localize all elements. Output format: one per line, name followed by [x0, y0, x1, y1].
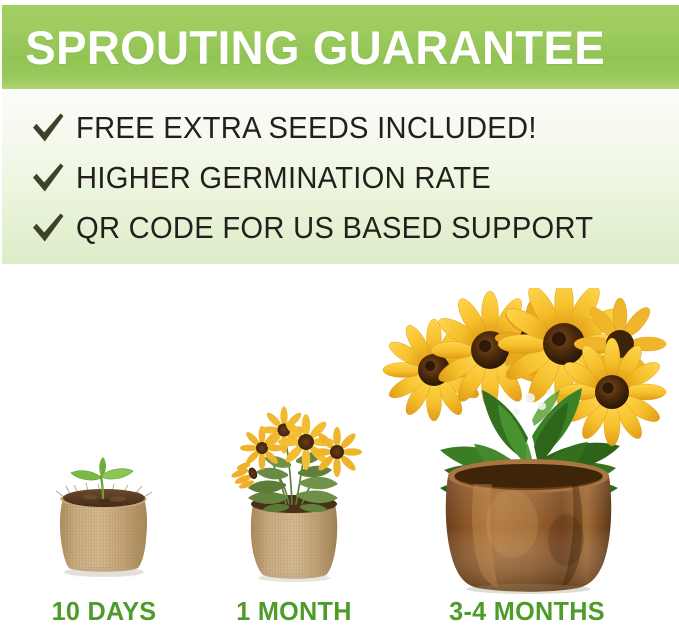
benefits-panel: FREE EXTRA SEEDS INCLUDED! HIGHER GERMIN… [2, 89, 679, 264]
check-icon [29, 107, 67, 147]
sprouting-guarantee-poster: SPROUTING GUARANTEE FREE EXTRA SEEDS INC… [0, 0, 679, 630]
growth-timeline: 10 DAYS [0, 264, 679, 630]
stage-caption: 10 DAYS [9, 598, 199, 630]
mature-sunflowers-in-copper-pot-image [382, 288, 672, 598]
list-item: QR CODE FOR US BASED SUPPORT [2, 202, 679, 252]
list-item-label: HIGHER GERMINATION RATE [76, 162, 491, 193]
header-banner: SPROUTING GUARANTEE [2, 5, 679, 89]
stage-caption: 3-4 MONTHS [386, 598, 667, 630]
list-item-label: QR CODE FOR US BASED SUPPORT [76, 212, 593, 243]
page-title: SPROUTING GUARANTEE [2, 24, 605, 71]
list-item: FREE EXTRA SEEDS INCLUDED! [2, 102, 679, 152]
young-sunflowers-in-burlap-pot-image [196, 386, 392, 598]
growth-stage-1-month: 1 MONTH [196, 386, 392, 630]
check-icon [29, 207, 67, 247]
check-icon [29, 157, 67, 197]
growth-stage-3-4-months: 3-4 MONTHS [382, 288, 672, 630]
growth-stage-10-days: 10 DAYS [6, 452, 202, 630]
list-item: HIGHER GERMINATION RATE [2, 152, 679, 202]
seedling-in-burlap-pot-image [6, 452, 202, 598]
list-item-label: FREE EXTRA SEEDS INCLUDED! [76, 112, 537, 143]
stage-caption: 1 MONTH [199, 598, 389, 630]
